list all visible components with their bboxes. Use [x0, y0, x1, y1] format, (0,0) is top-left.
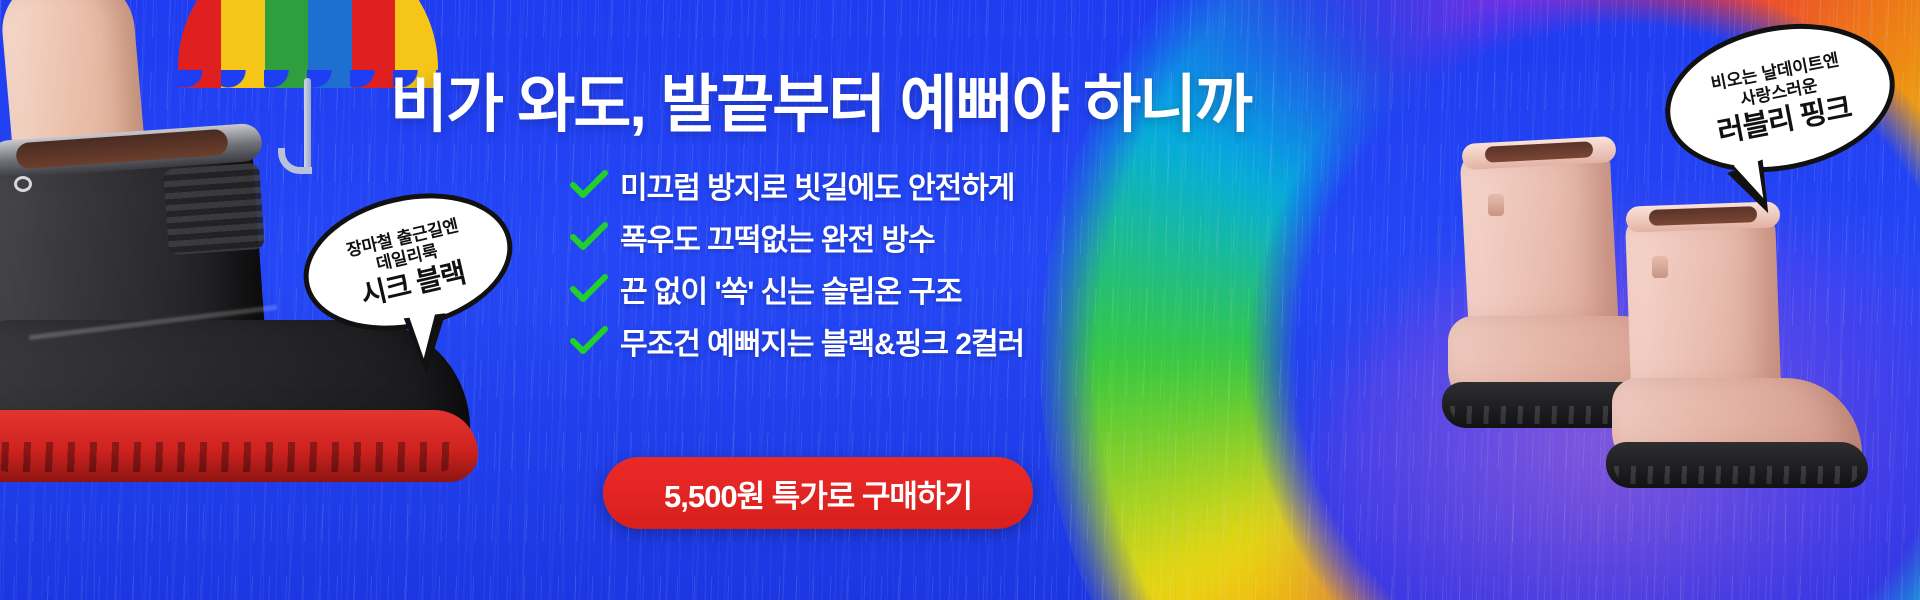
- pink-boot-b-shaft: [1625, 209, 1781, 394]
- pink-boot-b-tread: [1614, 466, 1860, 484]
- feature-text: 무조건 예뻐지는 블랙&핑크 2컬러: [620, 319, 1024, 363]
- check-icon: [570, 326, 608, 356]
- page-title: 비가 와도, 발끝부터 예뻐야 하니까: [390, 54, 1251, 145]
- check-icon: [570, 222, 608, 252]
- promo-banner: 비가 와도, 발끝부터 예뻐야 하니까 미끄럼 방지로 빗길에도 안전하게 폭우…: [0, 0, 1920, 600]
- feature-list: 미끄럼 방지로 빗길에도 안전하게 폭우도 끄떡없는 완전 방수 끈 없이 '쏙…: [570, 162, 1024, 370]
- pink-boot-b-tab: [1652, 256, 1668, 278]
- buy-now-label: 5,500원 특가로 구매하기: [664, 471, 972, 516]
- list-item: 폭우도 끄떡없는 완전 방수: [570, 214, 1024, 260]
- pink-boot-a-shaft: [1459, 144, 1618, 332]
- check-icon: [570, 274, 608, 304]
- pink-boot-a-tab: [1488, 194, 1504, 216]
- list-item: 미끄럼 방지로 빗길에도 안전하게: [570, 162, 1024, 208]
- list-item: 끈 없이 '쏙' 신는 슬립온 구조: [570, 266, 1024, 312]
- boot-ribbed-panel: [163, 163, 265, 255]
- boot-pull-loop: [14, 176, 32, 192]
- bubble-tail-fill: [408, 311, 441, 360]
- boot-sole-tread: [0, 442, 462, 472]
- feature-text: 폭우도 끄떡없는 완전 방수: [620, 215, 935, 259]
- pink-rain-boots-photo: [1440, 120, 1910, 590]
- list-item: 무조건 예뻐지는 블랙&핑크 2컬러: [570, 318, 1024, 364]
- feature-text: 미끄럼 방지로 빗길에도 안전하게: [620, 163, 1014, 207]
- feature-text: 끈 없이 '쏙' 신는 슬립온 구조: [620, 267, 962, 311]
- check-icon: [570, 170, 608, 200]
- buy-now-button[interactable]: 5,500원 특가로 구매하기: [603, 457, 1033, 529]
